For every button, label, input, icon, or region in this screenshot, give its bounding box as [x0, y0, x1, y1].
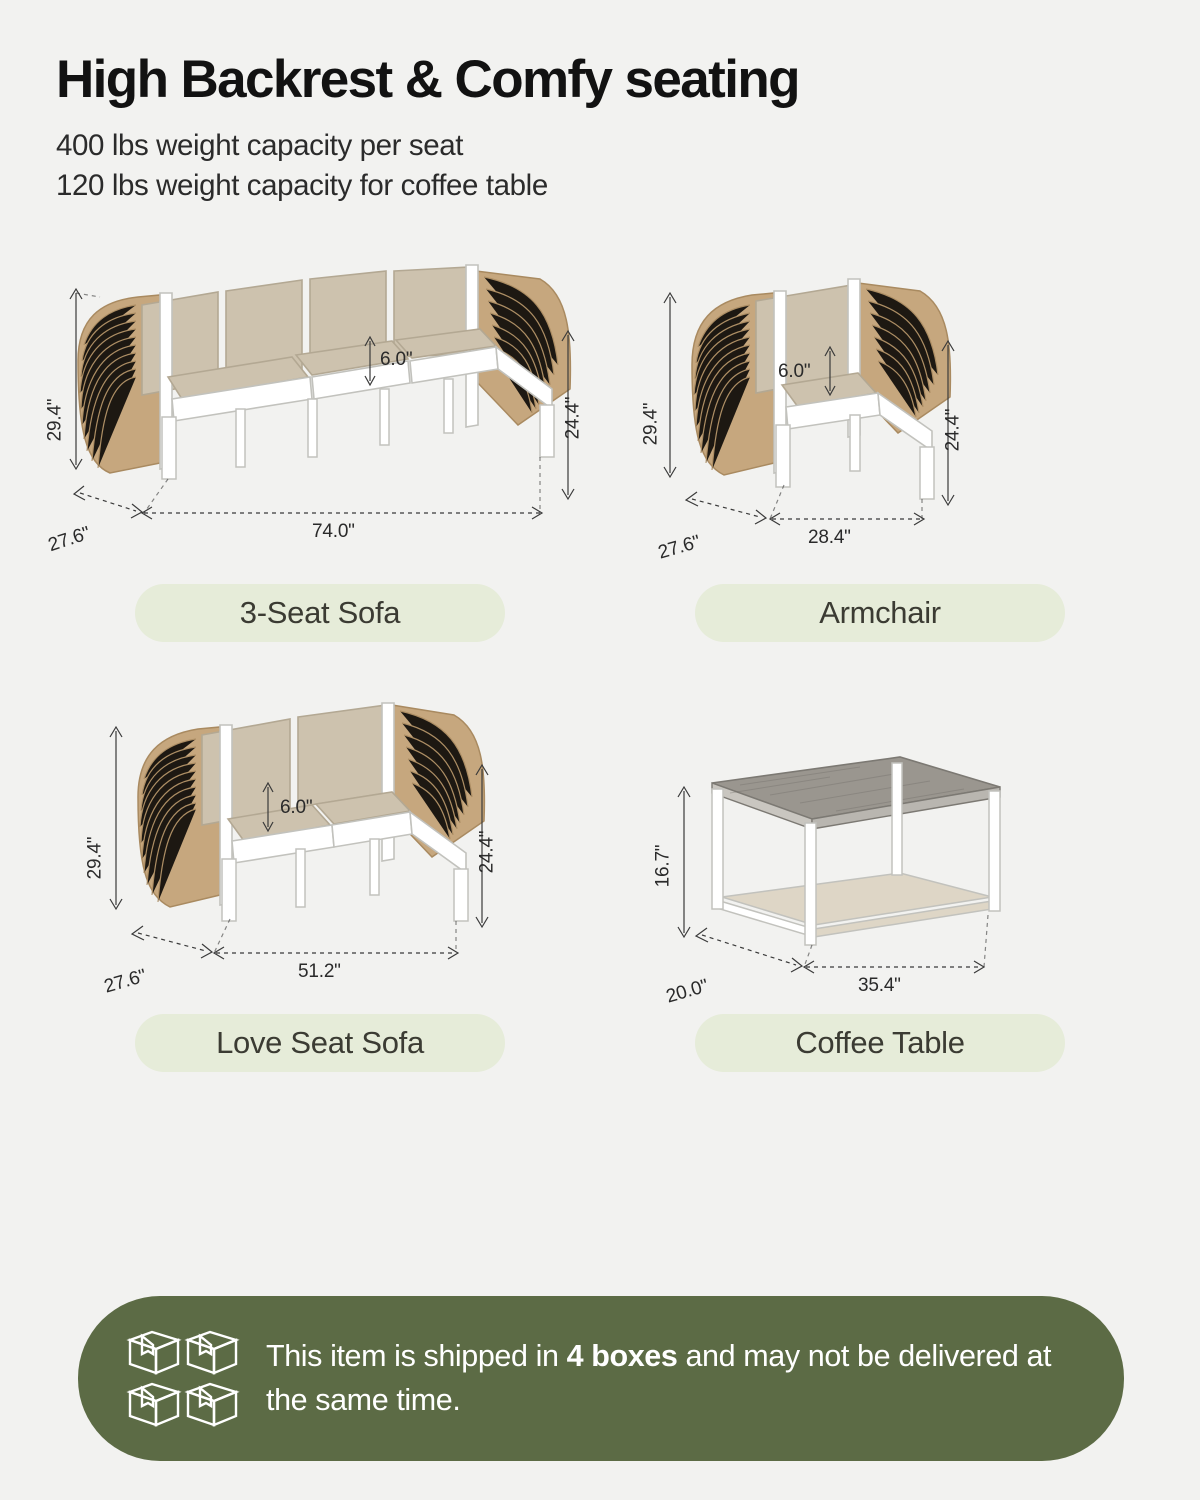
shipping-text-before: This item is shipped in	[266, 1339, 567, 1373]
capacity-line-2: 120 lbs weight capacity for coffee table	[56, 166, 1144, 207]
three-seat-sofa-illustration: 29.4" 27.6" 74.0" 24.4" 6.0"	[40, 249, 600, 584]
page-header: High Backrest & Comfy seating 400 lbs we…	[0, 0, 1200, 207]
dim-seat-height-three-seat-sofa: 24.4"	[562, 397, 584, 440]
armchair-illustration: 29.4" 27.6" 28.4" 24.4" 6.0"	[600, 249, 1160, 584]
dim-cushion-armchair: 6.0"	[778, 361, 810, 383]
product-card-coffee-table: 16.7" 20.0" 35.4" Coffee Table	[600, 679, 1160, 1109]
dim-height-love-seat-sofa: 29.4"	[84, 837, 106, 880]
product-label-love-seat-sofa: Love Seat Sofa	[135, 1014, 505, 1072]
dim-cushion-three-seat-sofa: 6.0"	[380, 349, 412, 371]
shipping-banner: This item is shipped in 4 boxes and may …	[78, 1296, 1124, 1461]
product-label-three-seat-sofa: 3-Seat Sofa	[135, 584, 505, 642]
stacked-boxes-icon	[122, 1324, 254, 1433]
dim-cushion-love-seat-sofa: 6.0"	[280, 797, 312, 819]
dim-width-armchair: 28.4"	[808, 527, 851, 549]
dim-height-armchair: 29.4"	[640, 403, 662, 446]
dim-width-coffee-table: 35.4"	[858, 975, 901, 997]
dim-height-coffee-table: 16.7"	[652, 845, 674, 888]
dim-seat-height-armchair: 24.4"	[942, 409, 964, 452]
dim-width-love-seat-sofa: 51.2"	[298, 961, 341, 983]
armchair-drawing	[600, 249, 1160, 584]
dim-height-three-seat-sofa: 29.4"	[44, 399, 66, 442]
coffee-table-illustration: 16.7" 20.0" 35.4"	[600, 679, 1160, 1014]
product-label-armchair: Armchair	[695, 584, 1065, 642]
product-grid: 29.4" 27.6" 74.0" 24.4" 6.0" 3-Seat Sofa	[0, 249, 1200, 1109]
product-card-three-seat-sofa: 29.4" 27.6" 74.0" 24.4" 6.0" 3-Seat Sofa	[40, 249, 600, 679]
shipping-message: This item is shipped in 4 boxes and may …	[266, 1335, 1080, 1422]
product-label-coffee-table: Coffee Table	[695, 1014, 1065, 1072]
dim-seat-height-love-seat-sofa: 24.4"	[476, 831, 498, 874]
love-seat-sofa-illustration: 29.4" 27.6" 51.2" 24.4" 6.0"	[40, 679, 600, 1014]
product-card-love-seat-sofa: 29.4" 27.6" 51.2" 24.4" 6.0" Love Seat S…	[40, 679, 600, 1109]
capacity-line-1: 400 lbs weight capacity per seat	[56, 126, 1144, 167]
page-title: High Backrest & Comfy seating	[56, 52, 1144, 108]
coffee-table-drawing	[600, 679, 1160, 1014]
dim-width-three-seat-sofa: 74.0"	[312, 521, 355, 543]
product-card-armchair: 29.4" 27.6" 28.4" 24.4" 6.0" Armchair	[600, 249, 1160, 679]
shipping-box-count: 4 boxes	[567, 1339, 678, 1373]
